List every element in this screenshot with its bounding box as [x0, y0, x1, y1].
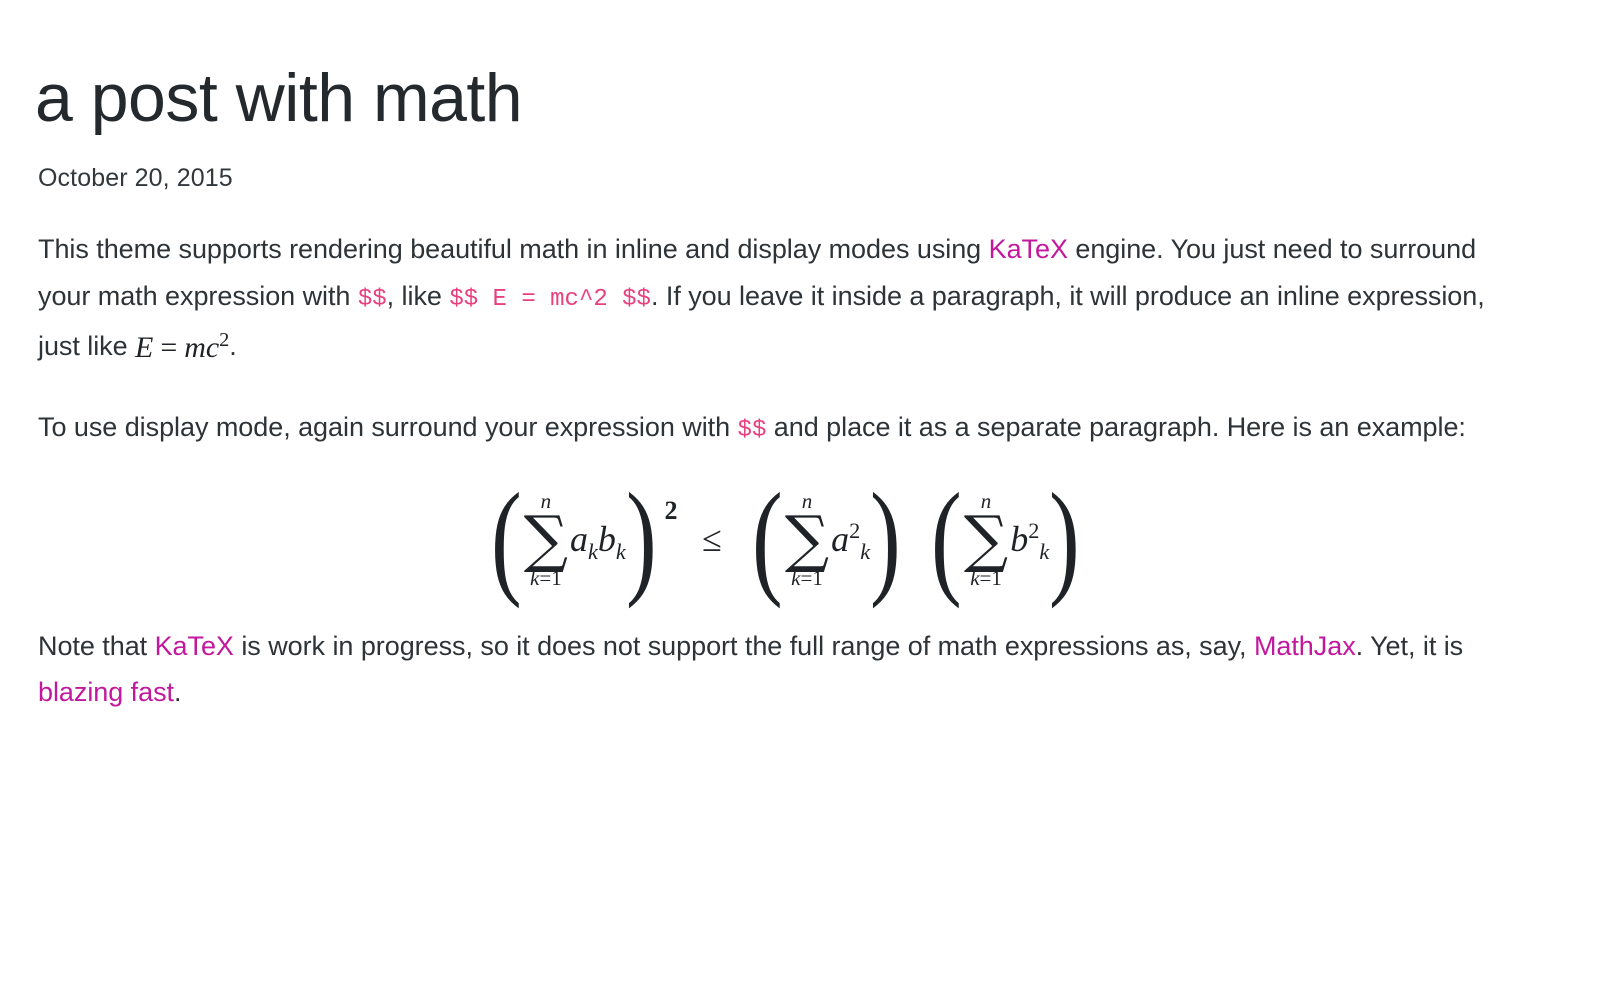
- math-group-rhs-b: (n∑k=1b2k): [925, 492, 1086, 590]
- paragraph-note: Note that KaTeX is work in progress, so …: [38, 623, 1533, 716]
- text-run: and place it as a separate paragraph. He…: [766, 412, 1466, 442]
- math-limit-equals: =: [980, 566, 992, 590]
- math-operator-equals: =: [160, 331, 177, 364]
- link-blazing-fast[interactable]: blazing fast: [38, 677, 174, 707]
- post-date: October 20, 2015: [38, 164, 1540, 193]
- math-right-paren: ): [870, 499, 901, 578]
- math-sigma-glyph: ∑: [785, 510, 829, 569]
- math-subscript-k: k: [616, 539, 626, 564]
- text-run: To use display mode, again surround your…: [38, 412, 738, 442]
- math-summation-1: n∑k=1: [524, 491, 568, 589]
- display-math-block: (n∑k=1akbk)2 ≤ (n∑k=1a2k) (n∑k=1b2k): [38, 492, 1533, 590]
- math-sigma-glyph: ∑: [524, 510, 568, 569]
- math-group-lhs: (n∑k=1akbk)2: [485, 492, 677, 590]
- math-limit-one: 1: [812, 566, 823, 590]
- math-symbol-b: b: [1010, 519, 1028, 559]
- math-summation-3: n∑k=1: [964, 491, 1008, 589]
- math-term-ak-squared: a2k: [831, 521, 870, 557]
- math-right-paren: ): [1049, 499, 1080, 578]
- math-limit-k: k: [970, 566, 979, 590]
- math-superscript-2: 2: [1028, 518, 1039, 543]
- paragraph-display-mode: To use display mode, again surround your…: [38, 404, 1533, 451]
- code-dollar-delimiters: $$: [358, 286, 387, 313]
- math-limit-equals: =: [800, 566, 812, 590]
- math-subscript-k: k: [1039, 539, 1049, 564]
- text-run: Note that: [38, 631, 155, 661]
- text-run: .: [174, 677, 181, 707]
- math-term-bk: bk: [598, 521, 626, 557]
- math-limit-bottom: k=1: [524, 568, 568, 589]
- math-outer-power-2: 2: [664, 498, 677, 524]
- math-limit-k: k: [530, 566, 539, 590]
- math-relation-leq: ≤: [702, 521, 722, 557]
- math-group-rhs-a: (n∑k=1a2k): [746, 492, 907, 590]
- post-page: a post with math October 20, 2015 This t…: [0, 0, 1600, 1000]
- link-katex[interactable]: KaTeX: [989, 234, 1068, 264]
- text-run: This theme supports rendering beautiful …: [38, 234, 989, 264]
- math-exponent-2: 2: [219, 329, 229, 351]
- math-limit-equals: =: [539, 566, 551, 590]
- math-symbol-a: a: [570, 519, 588, 559]
- math-summation-2: n∑k=1: [785, 491, 829, 589]
- cauchy-schwarz-inequality: (n∑k=1akbk)2 ≤ (n∑k=1a2k) (n∑k=1b2k): [485, 492, 1086, 590]
- math-sigma-glyph: ∑: [964, 510, 1008, 569]
- math-limit-bottom: k=1: [785, 568, 829, 589]
- math-limit-one: 1: [551, 566, 562, 590]
- math-symbol-c: c: [206, 331, 219, 364]
- text-run: is work in progress, so it does not supp…: [234, 631, 1254, 661]
- text-run: , like: [387, 281, 450, 311]
- inline-math-emc2: E=mc2: [135, 322, 229, 374]
- math-limit-bottom: k=1: [964, 568, 1008, 589]
- math-symbol-m: m: [184, 331, 206, 364]
- text-run: . Yet, it is: [1356, 631, 1463, 661]
- code-math-example: $$ E = mc^2 $$: [449, 286, 651, 313]
- math-superscript-2: 2: [849, 518, 860, 543]
- link-mathjax[interactable]: MathJax: [1254, 631, 1356, 661]
- code-dollar-delimiters: $$: [738, 417, 767, 444]
- math-subscript-k: k: [588, 539, 598, 564]
- math-term-bk-squared: b2k: [1010, 521, 1049, 557]
- math-symbol-a: a: [831, 519, 849, 559]
- math-limit-one: 1: [991, 566, 1002, 590]
- math-right-paren: ): [626, 499, 657, 578]
- link-katex[interactable]: KaTeX: [155, 631, 234, 661]
- math-left-paren: (: [752, 499, 783, 578]
- math-symbol-b: b: [598, 519, 616, 559]
- math-left-paren: (: [491, 499, 522, 578]
- post-body: This theme supports rendering beautiful …: [38, 226, 1533, 715]
- math-term-ak: ak: [570, 521, 598, 557]
- text-run: .: [229, 331, 236, 361]
- page-title: a post with math: [35, 62, 1540, 134]
- math-left-paren: (: [931, 499, 962, 578]
- math-symbol-E: E: [135, 331, 153, 364]
- paragraph-intro: This theme supports rendering beautiful …: [38, 226, 1533, 371]
- math-subscript-k: k: [860, 539, 870, 564]
